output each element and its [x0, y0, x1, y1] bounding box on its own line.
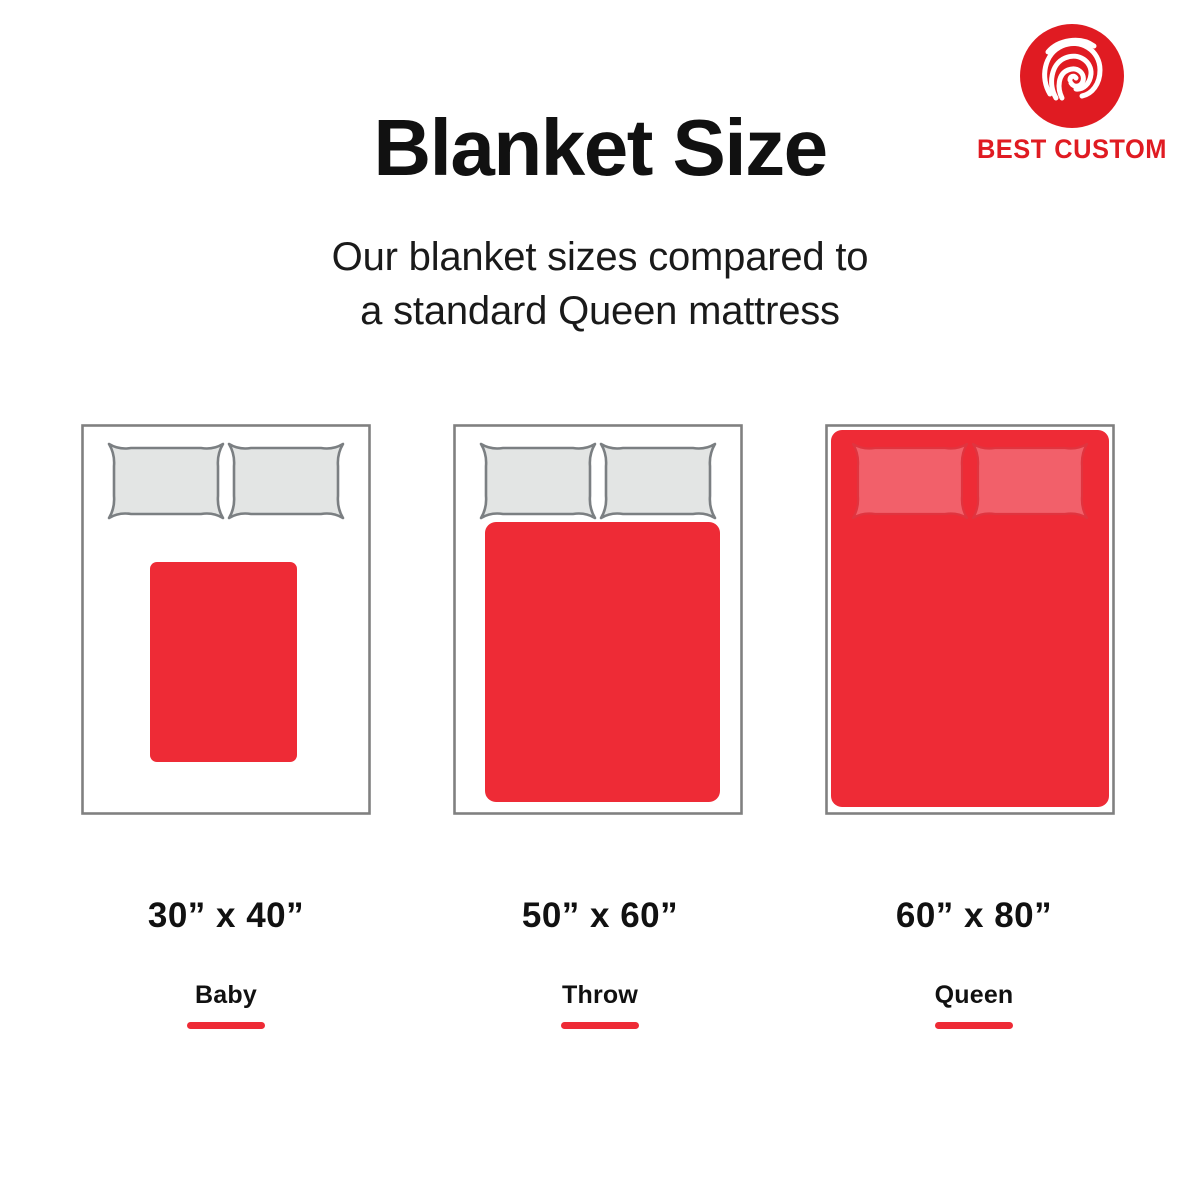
blanket-name: Throw — [420, 980, 780, 1010]
caption-row: 30” x 40” Baby 50” x 60” Throw 60” x 80”… — [0, 895, 1200, 1045]
queen-bed-diagram — [825, 424, 1115, 815]
throw-bed-diagram — [453, 424, 743, 815]
blanket-name: Queen — [794, 980, 1154, 1010]
blanket-baby — [150, 562, 297, 762]
blanket-throw — [485, 522, 720, 802]
accent-underline — [935, 1022, 1013, 1029]
baby-bed-diagram — [81, 424, 371, 815]
accent-underline — [187, 1022, 265, 1029]
blanket-dimensions: 50” x 60” — [420, 895, 780, 937]
caption-queen: 60” x 80” Queen — [794, 895, 1154, 1029]
subtitle-line-2: a standard Queen mattress — [0, 284, 1200, 338]
pillow-left — [109, 444, 223, 518]
bed-comparison-row — [0, 424, 1200, 824]
pillow-right — [973, 444, 1087, 518]
blanket-dimensions: 60” x 80” — [794, 895, 1154, 937]
blanket-name: Baby — [46, 980, 406, 1010]
accent-underline — [561, 1022, 639, 1029]
subtitle-line-1: Our blanket sizes compared to — [0, 230, 1200, 284]
blanket-dimensions: 30” x 40” — [46, 895, 406, 937]
page-title: Blanket Size — [0, 104, 1200, 192]
pillow-right — [229, 444, 343, 518]
caption-baby: 30” x 40” Baby — [46, 895, 406, 1029]
pillow-left — [853, 444, 967, 518]
pillow-right — [601, 444, 715, 518]
pillow-left — [481, 444, 595, 518]
infographic-canvas: BEST CUSTOM Blanket Size Our blanket siz… — [0, 0, 1200, 1200]
caption-throw: 50” x 60” Throw — [420, 895, 780, 1029]
page-subtitle: Our blanket sizes compared to a standard… — [0, 230, 1200, 338]
